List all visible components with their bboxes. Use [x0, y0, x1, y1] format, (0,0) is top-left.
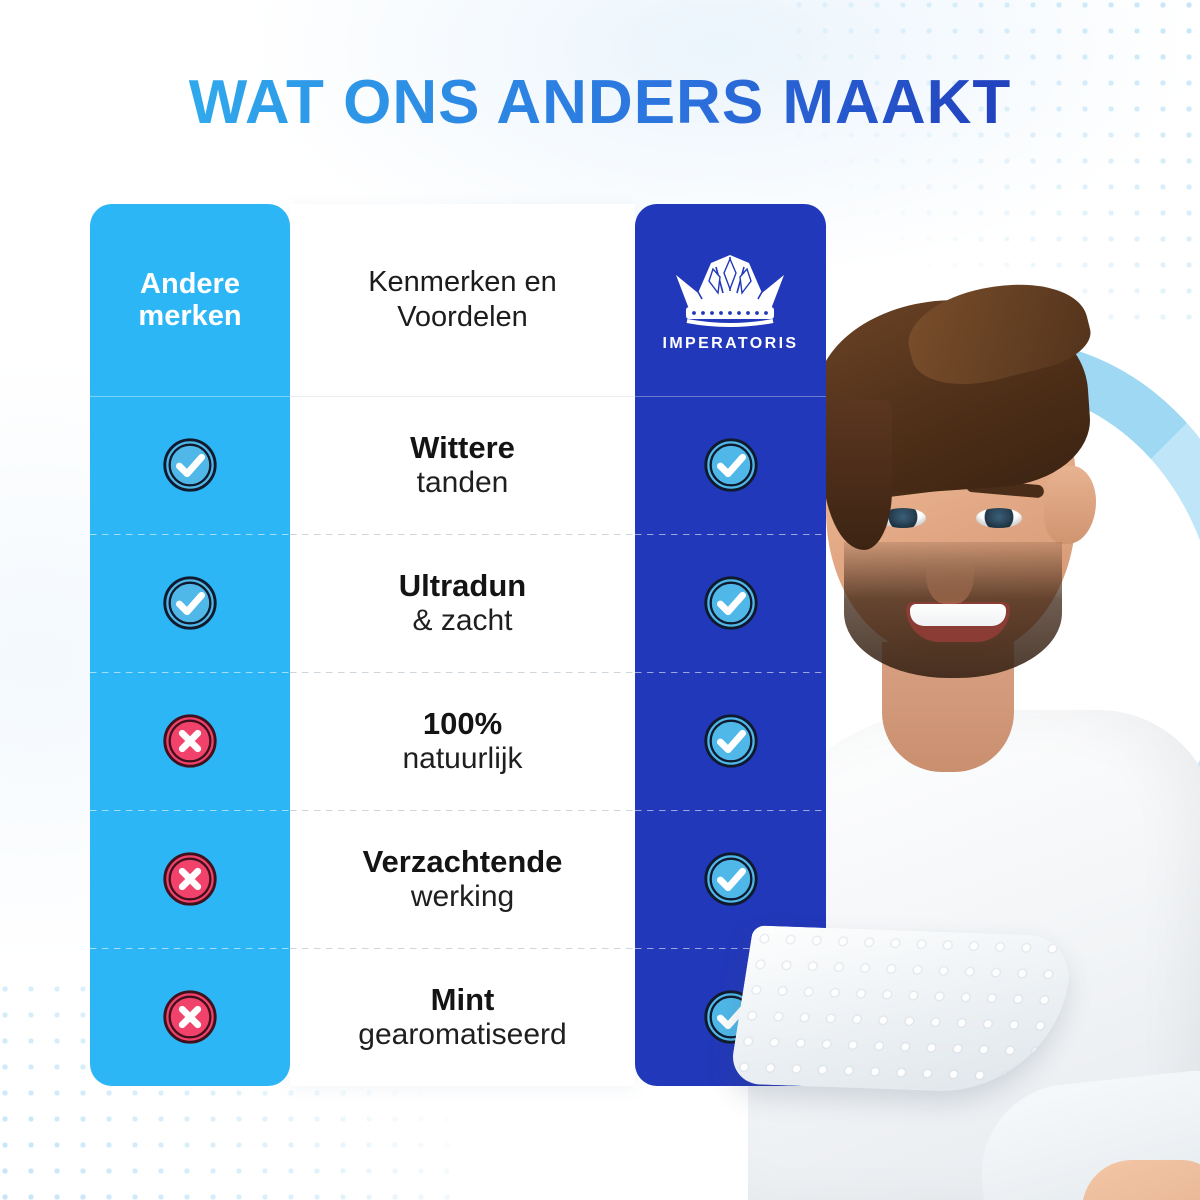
table-row — [90, 948, 290, 1086]
column-other-brands: Andere merken — [90, 204, 290, 1086]
brand-logo: IMPERATORIS — [662, 247, 798, 353]
feature-label: 100% natuurlijk — [402, 706, 522, 776]
header-line-2: Voordelen — [397, 301, 528, 333]
column-features: Kenmerken en Voordelen Wittere tanden Ul… — [290, 204, 635, 1086]
cross-icon — [159, 848, 221, 910]
header-line-1: Andere — [140, 268, 240, 300]
feature-label: Mint gearomatiseerd — [358, 982, 566, 1052]
column-header-other-brands: Andere merken — [90, 204, 290, 396]
brand-name: IMPERATORIS — [662, 335, 798, 353]
mouth — [906, 602, 1010, 642]
page-title: WAT ONS ANDERS MAAKT — [0, 72, 1200, 134]
feature-sub-text: natuurlijk — [402, 742, 522, 776]
other-brands-cells — [90, 396, 290, 1086]
table-row: Mint gearomatiseerd — [290, 948, 635, 1086]
table-row: 100% natuurlijk — [290, 672, 635, 810]
table-row — [90, 396, 290, 534]
column-header-imperatoris: IMPERATORIS — [635, 204, 826, 396]
feature-main-text: Ultradun — [399, 568, 526, 603]
feature-main-text: 100% — [402, 706, 522, 741]
feature-sub-text: werking — [363, 880, 563, 914]
column-header-features: Kenmerken en Voordelen — [290, 204, 635, 396]
check-icon — [159, 434, 221, 496]
feature-main-text: Wittere — [410, 430, 515, 465]
table-row — [90, 672, 290, 810]
table-row — [90, 810, 290, 948]
header-line-1: Kenmerken en — [368, 266, 557, 298]
teeth — [910, 604, 1006, 626]
table-row: Verzachtende werking — [290, 810, 635, 948]
check-icon — [700, 572, 762, 634]
feature-main-text: Verzachtende — [363, 844, 563, 879]
feature-label: Wittere tanden — [410, 430, 515, 500]
crown-icon — [666, 247, 794, 329]
ear — [1044, 466, 1096, 544]
table-row — [635, 672, 826, 810]
eye-right — [976, 508, 1022, 528]
table-row — [90, 534, 290, 672]
check-icon — [700, 848, 762, 910]
feature-sub-text: gearomatiseerd — [358, 1018, 566, 1052]
feature-cells: Wittere tanden Ultradun & zacht 100% nat… — [290, 396, 635, 1086]
feature-sub-text: & zacht — [399, 604, 526, 638]
feature-sub-text: tanden — [410, 466, 515, 500]
header-line-2: merken — [138, 300, 241, 332]
table-row: Wittere tanden — [290, 396, 635, 534]
table-row — [635, 396, 826, 534]
feature-main-text: Mint — [358, 982, 566, 1017]
check-icon — [700, 710, 762, 772]
table-row: Ultradun & zacht — [290, 534, 635, 672]
table-row — [635, 534, 826, 672]
infographic-canvas: WAT ONS ANDERS MAAKT — [0, 0, 1200, 1200]
check-icon — [700, 434, 762, 496]
cross-icon — [159, 986, 221, 1048]
check-icon — [159, 572, 221, 634]
feature-label: Verzachtende werking — [363, 844, 563, 914]
comparison-table: Andere merken — [90, 204, 826, 1086]
feature-label: Ultradun & zacht — [399, 568, 526, 638]
cross-icon — [159, 710, 221, 772]
nose — [926, 532, 974, 604]
